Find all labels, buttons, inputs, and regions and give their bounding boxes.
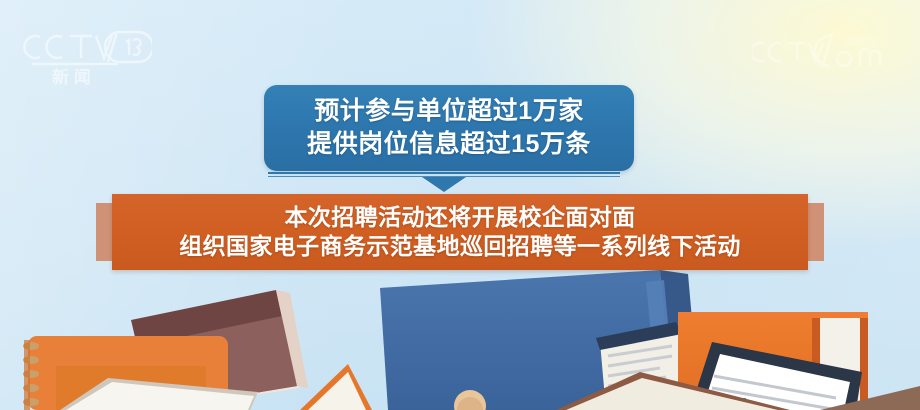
cctv13-logo: 新 闻 [22, 28, 152, 86]
orange-banner-line-2: 组织国家电子商务示范基地巡回招聘等一系列线下活动 [179, 233, 741, 261]
news-graphic-frame: 新 闻 央视网 预计参与单位超过1万家 提供岗位信息超过15万条 [0, 0, 920, 410]
blue-banner-line-2: 提供岗位信息超过15万条 [307, 130, 591, 160]
cctv-com-watermark: 央视网 [752, 30, 912, 74]
stationery-illustration [0, 260, 920, 410]
banner-connector [268, 172, 620, 194]
blue-banner-line-1: 预计参与单位超过1万家 [314, 97, 583, 127]
orange-card [300, 364, 372, 410]
logo-subtitle-text: 新 闻 [52, 67, 91, 86]
ribbon-body: 本次招聘活动还将开展校企面对面 组织国家电子商务示范基地巡回招聘等一系列线下活动 [112, 194, 808, 270]
connector-rule-top [268, 172, 620, 174]
orange-banner-line-1: 本次招聘活动还将开展校企面对面 [285, 204, 636, 232]
orange-ribbon-banner: 本次招聘活动还将开展校企面对面 组织国家电子商务示范基地巡回招聘等一系列线下活动 [96, 194, 824, 270]
down-arrow-icon [422, 177, 466, 192]
blue-highlight-banner: 预计参与单位超过1万家 提供岗位信息超过15万条 [264, 85, 634, 171]
watermark-cn-text: 央视网 [844, 35, 877, 49]
